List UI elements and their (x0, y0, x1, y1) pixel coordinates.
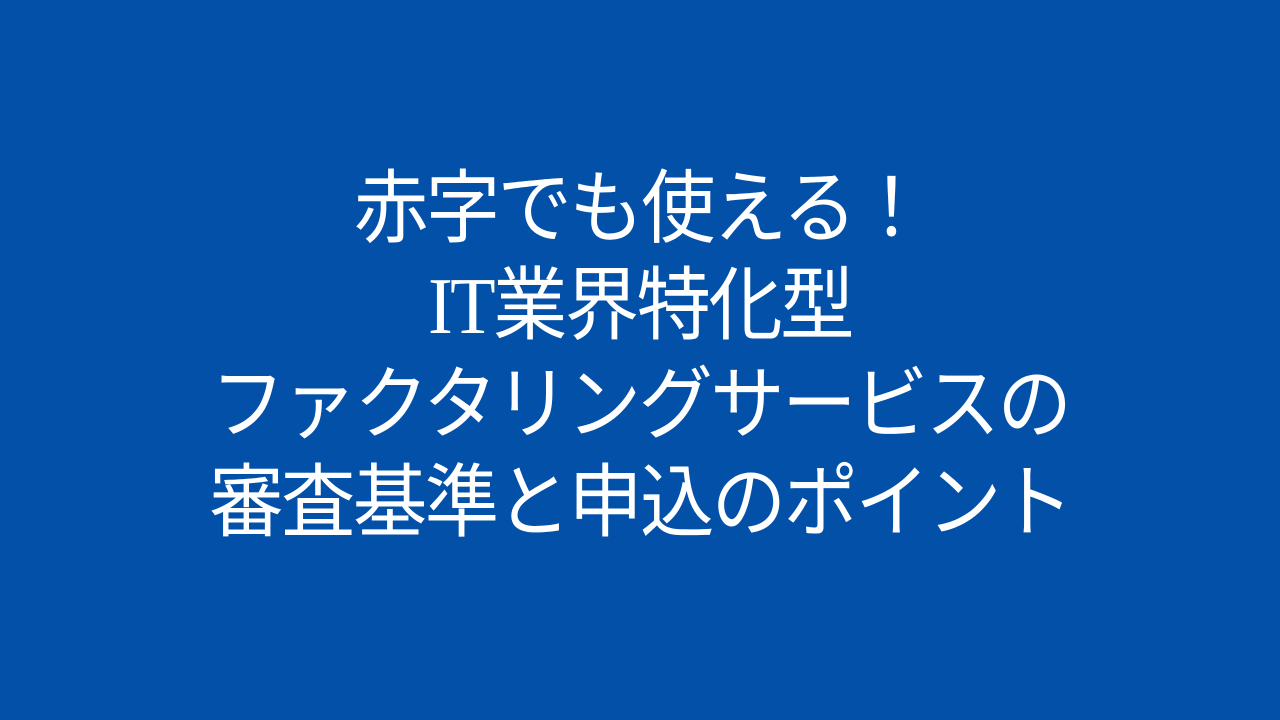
title-slide: 赤字でも使える！ IT業界特化型 ファクタリングサービスの 審査基準と申込のポイ… (0, 0, 1280, 720)
title-line-2: IT業界特化型 (45, 258, 1235, 356)
title-line-3: ファクタリングサービスの (45, 356, 1235, 454)
page-title: 赤字でも使える！ IT業界特化型 ファクタリングサービスの 審査基準と申込のポイ… (0, 160, 1280, 552)
title-line-1: 赤字でも使える！ (45, 160, 1235, 258)
title-line-4: 審査基準と申込のポイント (45, 454, 1235, 552)
